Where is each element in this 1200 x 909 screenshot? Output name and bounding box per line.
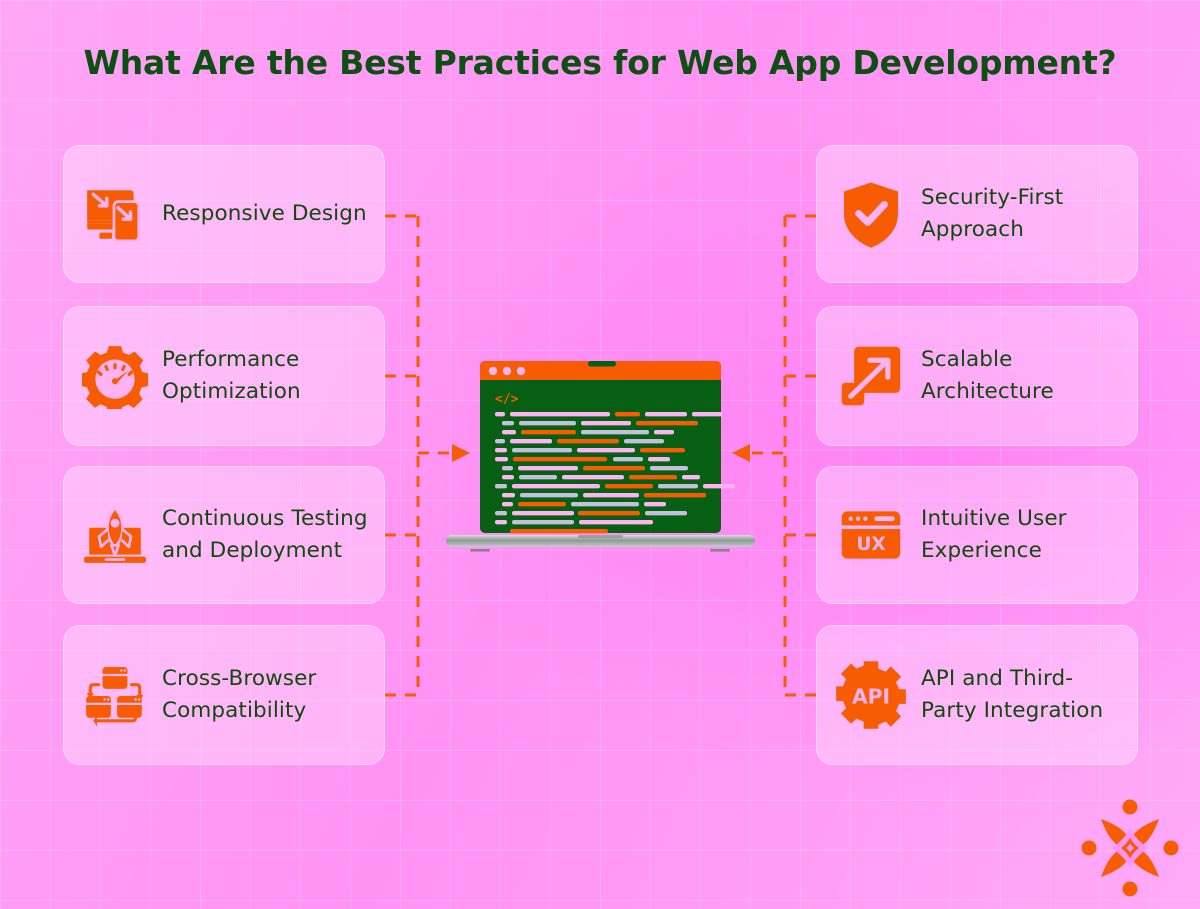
card-security-first-approach[interactable]: Security-First Approach (816, 145, 1138, 283)
svg-text:UX: UX (856, 534, 885, 555)
laptop-code-editor-illustration: </> (438, 355, 763, 560)
browser-ux-icon: UX (835, 499, 907, 571)
card-label: API and Third-Party Integration (921, 663, 1121, 727)
shield-check-icon (835, 178, 907, 250)
rocket-laptop-icon (82, 502, 148, 568)
four-point-star-logo (1079, 798, 1181, 898)
monitor-phone-responsive-icon (82, 181, 148, 247)
svg-text:</>: </> (495, 392, 519, 407)
card-api-third-party-integration[interactable]: API API and Third-Party Integration (816, 625, 1138, 765)
card-responsive-design[interactable]: Responsive Design (63, 145, 385, 283)
expand-arrow-squares-icon (835, 340, 907, 412)
card-label: Security-First Approach (921, 182, 1121, 246)
three-browser-windows-icon (82, 662, 148, 728)
gear-speedometer-icon (82, 343, 148, 409)
card-continuous-testing-deployment[interactable]: Continuous Testing and Deployment (63, 466, 385, 604)
card-performance-optimization[interactable]: Performance Optimization (63, 306, 385, 446)
logo-dot-top (1123, 800, 1138, 815)
card-label: Responsive Design (162, 198, 367, 230)
card-label: Cross-Browser Compatibility (162, 663, 368, 727)
card-label: Continuous Testing and Deployment (162, 503, 368, 567)
svg-text:API: API (852, 684, 890, 708)
card-scalable-architecture[interactable]: Scalable Architecture (816, 306, 1138, 446)
logo-dot-bottom (1123, 882, 1138, 897)
logo-dot-left (1082, 841, 1097, 856)
card-label: Performance Optimization (162, 344, 368, 408)
logo-dot-right (1164, 841, 1179, 856)
page-title: What Are the Best Practices for Web App … (0, 43, 1200, 82)
gear-api-icon: API (835, 659, 907, 731)
card-label: Scalable Architecture (921, 344, 1121, 408)
card-cross-browser-compatibility[interactable]: Cross-Browser Compatibility (63, 625, 385, 765)
card-label: Intuitive User Experience (921, 503, 1121, 567)
card-intuitive-user-experience[interactable]: UX Intuitive User Experience (816, 466, 1138, 604)
